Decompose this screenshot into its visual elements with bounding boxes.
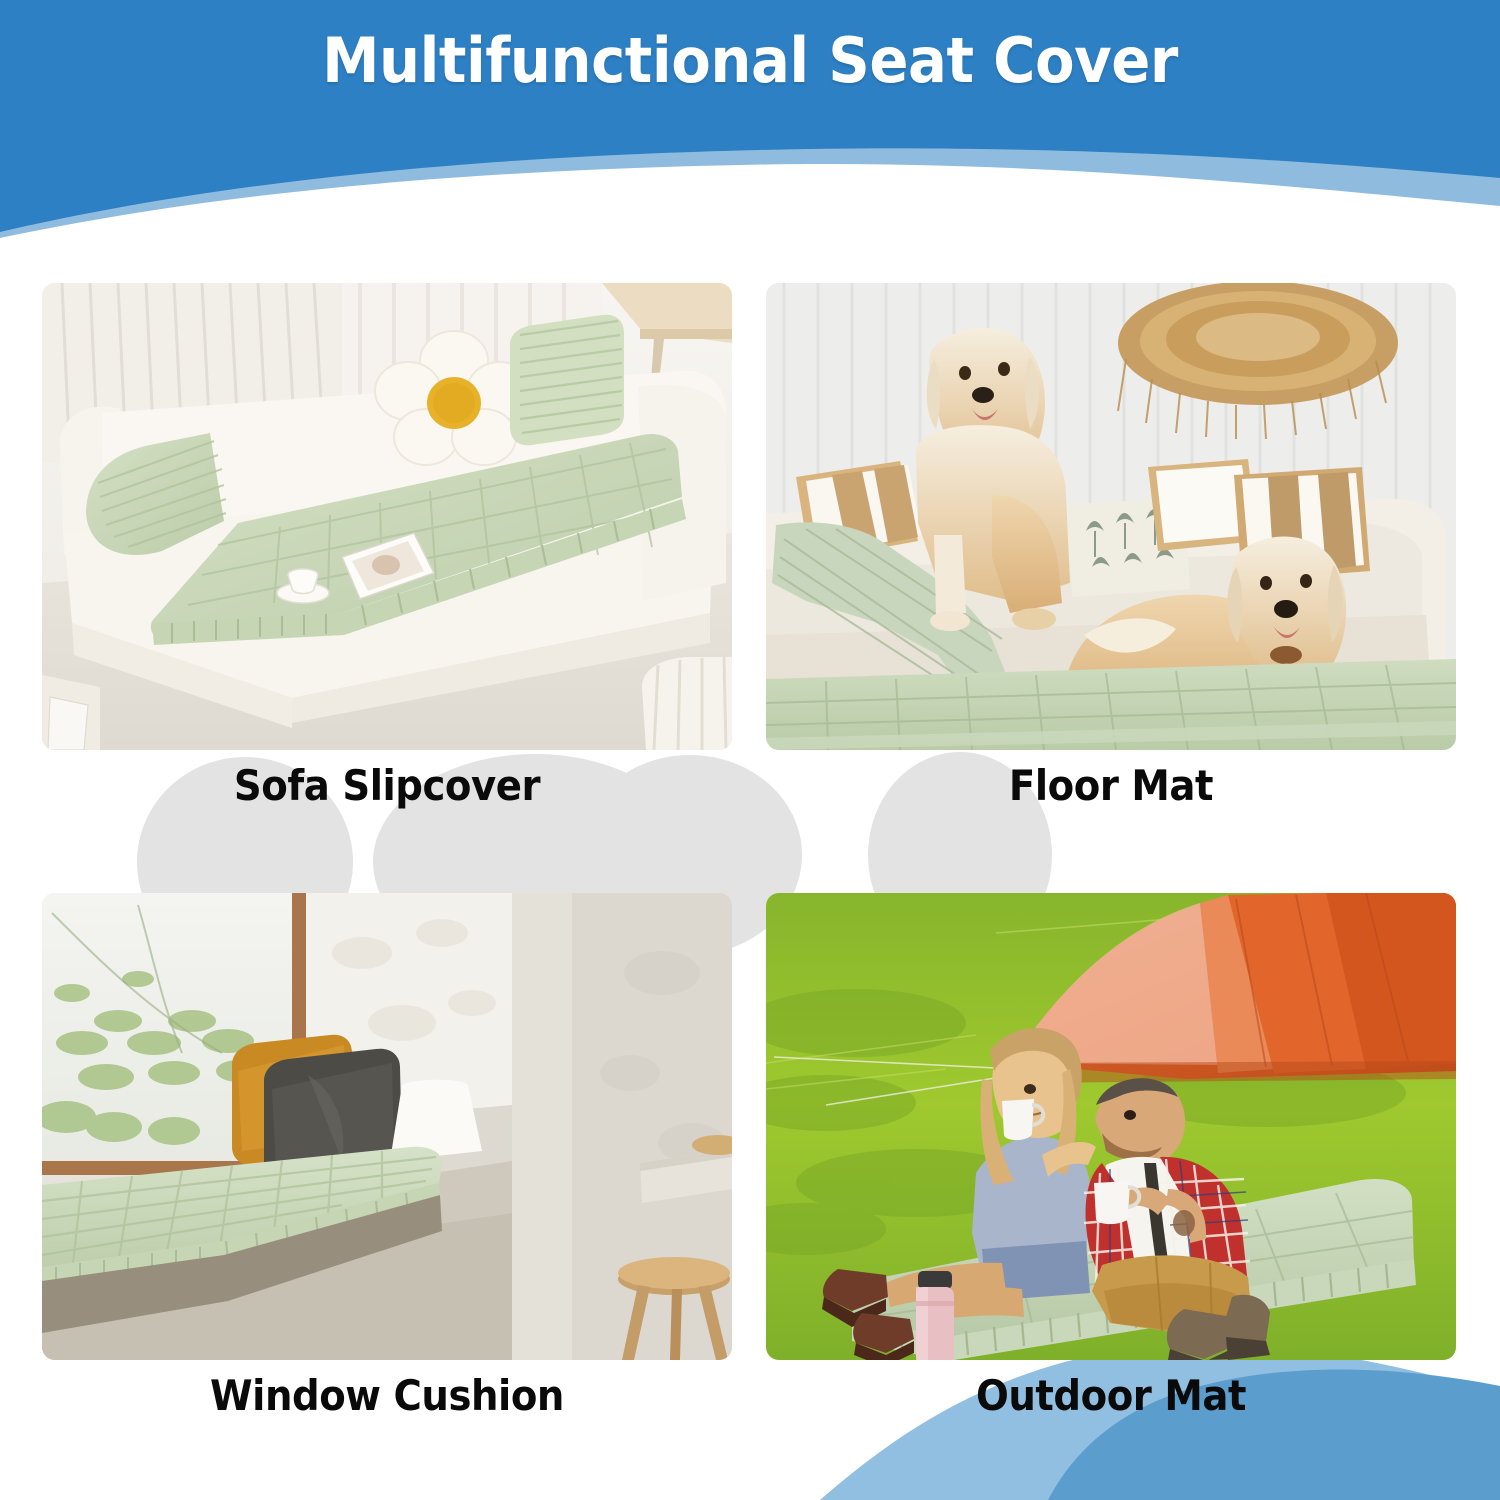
photo-living-room-sofa: [42, 283, 732, 750]
photo-camping-couple: [766, 893, 1456, 1360]
panel-label-window-cushion: Window Cushion: [70, 1371, 705, 1420]
panel-label-outdoor-mat: Outdoor Mat: [794, 1371, 1429, 1420]
page-title: Multifunctional Seat Cover: [53, 28, 1448, 93]
wooden-stool: [618, 1257, 730, 1360]
panel-window-cushion[interactable]: Window Cushion: [42, 893, 732, 1360]
panel-label-sofa-slipcover: Sofa Slipcover: [70, 761, 705, 810]
panel-label-floor-mat: Floor Mat: [794, 761, 1429, 810]
photo-dogs-on-sofa: [766, 283, 1456, 750]
panel-outdoor-mat[interactable]: Outdoor Mat: [766, 893, 1456, 1360]
infographic-page: Multifunctional Seat Cover: [0, 0, 1500, 1500]
panel-sofa-slipcover[interactable]: Sofa Slipcover: [42, 283, 732, 750]
panel-floor-mat[interactable]: Floor Mat: [766, 283, 1456, 750]
thermos-flask: [916, 1271, 954, 1360]
photo-window-bay-seat: [42, 893, 732, 1360]
blue-wave-decor: [820, 1343, 1500, 1500]
feature-grid: Sofa Slipcover: [42, 283, 1456, 1363]
